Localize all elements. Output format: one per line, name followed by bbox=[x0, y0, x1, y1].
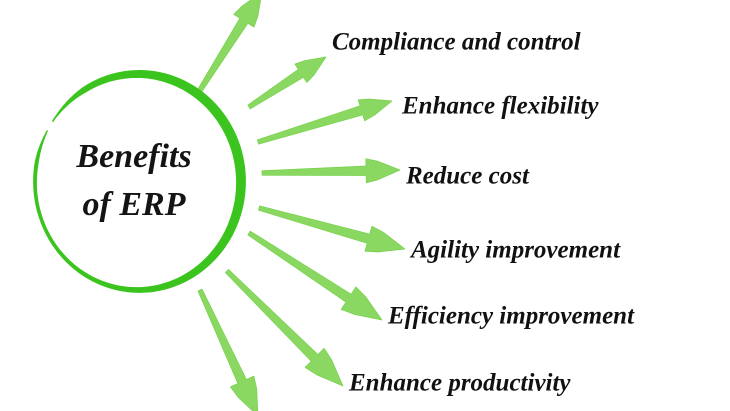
benefit-label-enhance-productivity: Enhance productivity bbox=[348, 370, 571, 397]
center-title-line-2: of ERP bbox=[83, 186, 186, 223]
diagram-canvas: Benefitsof ERP Compliance and controlEnh… bbox=[0, 0, 730, 411]
center-title-line-1: Benefits bbox=[75, 138, 191, 175]
benefit-label-enhance-flexibility: Enhance flexibility bbox=[401, 93, 599, 120]
benefit-label-efficiency-improvement: Efficiency improvement bbox=[387, 303, 635, 330]
erp-benefits-diagram: Benefitsof ERP Compliance and controlEnh… bbox=[0, 0, 730, 411]
benefit-label-agility-improvement: Agility improvement bbox=[409, 237, 621, 264]
benefit-label-reduce-cost: Reduce cost bbox=[405, 163, 530, 190]
benefit-label-compliance-and-control: Compliance and control bbox=[332, 29, 581, 56]
